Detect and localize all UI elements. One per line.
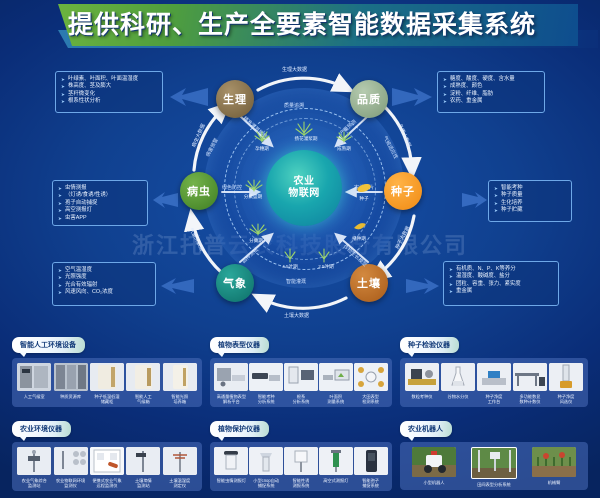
product-item[interactable]: 人工气候室 xyxy=(17,363,52,399)
stage-label-sowing: 播种期 xyxy=(340,236,378,242)
product-item[interactable]: 多功能数显 数种计数仪 xyxy=(513,363,547,404)
product-thumbnail xyxy=(319,447,353,475)
product-thumbnail xyxy=(477,363,511,391)
product-thumbnail xyxy=(319,363,353,391)
seed-grain-icon xyxy=(354,182,372,229)
product-label: 智能性诱 测报系统 xyxy=(293,478,310,488)
product-label: 种质资源库 xyxy=(60,394,81,399)
panel-agricultural-environment-instruments: 农业环境仪器 农业气象综合 监测站 农业物联网环境 监测仪 便携式农业气象 远程… xyxy=(12,418,202,491)
product-item[interactable]: 机械臂 xyxy=(526,447,582,485)
product-item[interactable]: 种子净度 工作台 xyxy=(477,363,511,404)
product-item[interactable]: 数粒考种仪 xyxy=(405,363,439,399)
stage-label-booting: 孕穗期 xyxy=(242,146,282,152)
product-thumbnail xyxy=(249,363,283,391)
product-item[interactable]: 种子净度 风选仪 xyxy=(549,363,583,404)
callout-item-sub: （灯诱/食诱/性诱） xyxy=(58,192,142,199)
product-thumbnail xyxy=(17,447,51,475)
panel-body: 小型机器人 田间表型分析系统 机械臂 xyxy=(400,442,588,490)
callout-item: 重金属 xyxy=(449,288,553,295)
product-item[interactable]: 智能虫情测报灯 xyxy=(215,447,248,483)
product-thumbnail xyxy=(354,363,388,391)
product-label: 大田表型 检测系统 xyxy=(362,394,379,404)
callout-item: 种子质量 xyxy=(494,192,566,199)
product-thumbnail xyxy=(126,363,160,391)
product-item[interactable]: 大田表型 检测系统 xyxy=(354,363,387,404)
panel-body: 智能虫情测报灯 小型спор自动 捕捉系统 智能性诱 测报系统 高空式测报灯 xyxy=(210,442,392,491)
product-thumbnail xyxy=(354,447,388,475)
product-thumbnail xyxy=(163,363,197,391)
arrow-to-seed-box xyxy=(462,190,488,210)
product-label: 智能虫情测报灯 xyxy=(217,478,246,483)
stage-label-seed: 种子 xyxy=(348,196,380,202)
product-label: 根系 分析系统 xyxy=(293,394,310,404)
product-label: 小型机器人 xyxy=(424,480,445,485)
stage-label-tillering: 分蘖期 xyxy=(236,238,276,244)
panel-title: 农业环境仪器 xyxy=(12,421,71,437)
product-item[interactable]: 高通量植物表型 解析平台 xyxy=(215,363,248,404)
panel-plant-phenotype-instruments: 植物表型仪器 高通量植物表型 解析平台 智能考种 分析系统 根系 分析系统 xyxy=(210,334,392,407)
product-label: 便携式农业气象 远程监测仪 xyxy=(92,478,121,488)
stage-label-tillering-peak: 分蘖盛期 xyxy=(232,194,274,200)
panel-smart-artificial-environment: 智能人工环境设备 人工气候室 种质资源库 种子低温低湿 储藏柜 xyxy=(12,334,202,407)
product-item[interactable]: 谷物水分仪 xyxy=(441,363,475,399)
product-thumbnail xyxy=(214,363,248,391)
product-thumbnail xyxy=(405,363,439,391)
product-label: 农业气象综合 监测站 xyxy=(22,478,47,488)
product-label: 机械臂 xyxy=(548,480,561,485)
product-thumbnail xyxy=(214,447,248,475)
panel-seed-inspection-instruments: 种子检验仪器 数粒考种仪 谷物水分仪 种子净度 工作台 xyxy=(400,334,588,407)
product-item[interactable]: 便携式农业气象 远程监测仪 xyxy=(90,447,125,488)
callout-item: 风速风向、CO₂浓度 xyxy=(58,289,150,296)
product-thumbnail xyxy=(471,447,517,479)
page-header: 提供科研、生产全要素智能数据采集系统 xyxy=(0,0,600,50)
callout-physiology: 叶绿素、叶面积、叶面温湿度 株高度、茎及膨大 茎秆微变化 根系性状分析 xyxy=(55,71,163,113)
arrow-to-pest-box xyxy=(152,190,178,210)
callout-item: 种子贮藏 xyxy=(494,207,566,214)
product-item[interactable]: 小型спор自动 捕捉系统 xyxy=(250,447,283,488)
product-item[interactable]: 种子低温低湿 储藏柜 xyxy=(90,363,125,404)
product-label: 土壤温湿度 测定仪 xyxy=(169,478,190,488)
product-item[interactable]: 智能性诱 测报系统 xyxy=(284,447,317,488)
product-label: 智能考种 分析系统 xyxy=(258,394,275,404)
stage-label-flowering: 扬花灌浆期 xyxy=(282,136,330,142)
callout-weather: 空气温湿度 光照强度 光合有效辐射 风速风向、CO₂浓度 xyxy=(52,262,156,306)
product-label: 智能孢子 捕捉系统 xyxy=(362,478,379,488)
callout-pest: 虫情测报 （灯诱/食诱/性诱） 孢子自动捕捉 高空测报灯 虫害APP xyxy=(52,180,148,226)
callout-item: 高空测报灯 xyxy=(58,207,142,214)
agriculture-iot-cycle-diagram: 农业 物联网 生理 品质 种子 土壤 气象 病虫 生理大数据 品质大数据 种子大… xyxy=(178,66,430,322)
product-thumbnail xyxy=(549,363,583,391)
product-thumbnail xyxy=(54,447,88,475)
product-item[interactable]: 农业气象综合 监测站 xyxy=(17,447,52,488)
product-thumbnail xyxy=(163,447,197,475)
product-label: 田间表型分析系统 xyxy=(477,482,511,487)
panel-body: 人工气候室 种质资源库 种子低温低湿 储藏柜 智能人工 气候箱 xyxy=(12,358,202,407)
callout-seed: 智能考种 种子质量 生化培养 种子贮藏 xyxy=(488,180,572,222)
callout-quality: 糖度、酸度、硬度、含水量 成熟度、颜色 淀粉、纤维、脂肪 农药、重金属 xyxy=(437,71,545,113)
panel-title: 农业机器人 xyxy=(400,421,452,437)
callout-item: 根系性状分析 xyxy=(61,98,157,105)
product-label: 土壤墒情 监测站 xyxy=(135,478,152,488)
product-panels: 智能人工环境设备 人工气候室 种质资源库 种子低温低湿 储藏柜 xyxy=(0,334,600,498)
stage-label-leaf-45: 4.5叶期 xyxy=(272,264,308,270)
product-thumbnail xyxy=(532,447,576,477)
callout-soil: 有机质、N、P、K等养分 温湿度、酸碱度、盐分 团粒、容重、张力、紧实度 重金属 xyxy=(443,261,559,306)
product-thumbnail xyxy=(284,363,318,391)
panel-agricultural-robots: 农业机器人 小型机器人 田间表型分析系统 机械臂 xyxy=(400,418,588,490)
product-item[interactable]: 智能光照 培养箱 xyxy=(162,363,197,404)
product-label: 数粒考种仪 xyxy=(412,394,433,399)
callout-item: 株高度、茎及膨大 xyxy=(61,83,157,90)
product-thumbnail xyxy=(17,363,51,391)
product-item[interactable]: 高空式测报灯 xyxy=(319,447,352,483)
product-item[interactable]: 智能考种 分析系统 xyxy=(250,363,283,404)
product-label: 智能光照 培养箱 xyxy=(171,394,188,404)
product-label: 谷物水分仪 xyxy=(448,394,469,399)
callout-item: 农药、重金属 xyxy=(443,98,539,105)
product-item[interactable]: 叶面积 测量系统 xyxy=(319,363,352,404)
product-label: 种子净度 风选仪 xyxy=(558,394,575,404)
product-thumbnail xyxy=(284,447,318,475)
stage-label-leaf-25: 2.5叶期 xyxy=(308,264,344,270)
product-item[interactable]: 土壤温湿度 测定仪 xyxy=(162,447,197,488)
callout-item: 光照强度 xyxy=(58,274,150,281)
product-thumbnail xyxy=(249,447,283,475)
product-item[interactable]: 智能人工 气候箱 xyxy=(126,363,161,404)
product-item[interactable]: 农业物联网环境 监测仪 xyxy=(53,447,88,488)
panel-title: 植物表型仪器 xyxy=(210,337,269,353)
product-item[interactable]: 小型机器人 xyxy=(406,447,462,485)
panel-title: 种子检验仪器 xyxy=(400,337,459,353)
callout-item: 虫害APP xyxy=(58,215,142,222)
product-thumbnail xyxy=(54,363,88,391)
panel-body: 数粒考种仪 谷物水分仪 种子净度 工作台 多功能数显 数种计数仪 xyxy=(400,358,588,407)
product-thumbnail xyxy=(412,447,456,477)
product-item[interactable]: 种质资源库 xyxy=(53,363,88,399)
page-title: 提供科研、生产全要素智能数据采集系统 xyxy=(68,7,588,43)
product-label: 农业物联网环境 监测仪 xyxy=(56,478,85,488)
stage-label-maturity: 成熟期 xyxy=(324,146,364,152)
panel-body: 农业气象综合 监测站 农业物联网环境 监测仪 便携式农业气象 远程监测仪 土壤墒… xyxy=(12,442,202,491)
callout-item: 温湿度、酸碱度、盐分 xyxy=(449,273,553,280)
product-label: 高空式测报灯 xyxy=(323,478,348,483)
product-thumbnail xyxy=(90,363,124,391)
panel-body: 高通量植物表型 解析平台 智能考种 分析系统 根系 分析系统 叶面积 测量系统 xyxy=(210,358,392,407)
product-label: 叶面积 测量系统 xyxy=(327,394,344,404)
product-label: 种子净度 工作台 xyxy=(486,394,503,404)
product-thumbnail xyxy=(90,447,124,475)
product-thumbnail xyxy=(126,447,160,475)
product-label: 小型спор自动 捕捉系统 xyxy=(253,478,279,488)
product-thumbnail xyxy=(441,363,475,391)
product-item[interactable]: 田间表型分析系统 xyxy=(466,447,522,487)
growth-stage-plant-icons xyxy=(178,66,430,322)
callout-item: 成熟度、颜色 xyxy=(443,83,539,90)
product-item[interactable]: 根系 分析系统 xyxy=(284,363,317,404)
product-item[interactable]: 智能孢子 捕捉系统 xyxy=(354,447,387,488)
product-thumbnail xyxy=(513,363,547,391)
product-label: 多功能数显 数种计数仪 xyxy=(520,394,541,404)
product-label: 人工气候室 xyxy=(24,394,45,399)
panel-title: 智能人工环境设备 xyxy=(12,337,85,353)
product-label: 种子低温低湿 储藏柜 xyxy=(94,394,119,404)
panel-plant-protection-instruments: 植物保护仪器 智能虫情测报灯 小型спор自动 捕捉系统 智能性诱 测报系统 xyxy=(210,418,392,491)
product-item[interactable]: 土壤墒情 监测站 xyxy=(126,447,161,488)
panel-title: 植物保护仪器 xyxy=(210,421,269,437)
product-label: 智能人工 气候箱 xyxy=(135,394,152,404)
product-label: 高通量植物表型 解析平台 xyxy=(217,394,246,404)
